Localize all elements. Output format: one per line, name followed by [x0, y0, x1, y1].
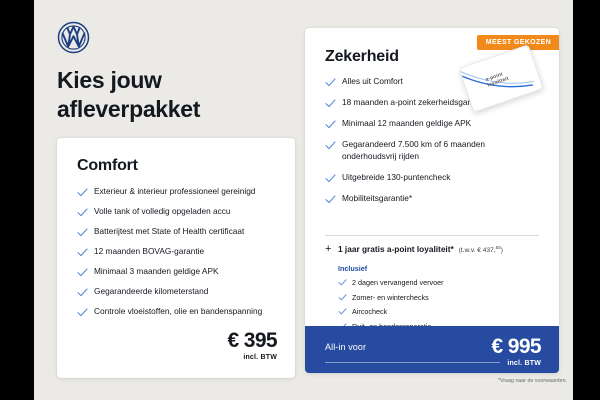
- zekerheid-price-footer: All-in voor € 995 incl. BTW: [305, 326, 559, 373]
- list-item: Exterieur & interieur professioneel gere…: [77, 186, 277, 198]
- page-title: Kies jouw afleverpakket: [57, 66, 287, 124]
- list-item-label: Uitgebreide 130-puntencheck: [342, 172, 450, 182]
- included-title: Inclusief: [338, 264, 488, 273]
- list-item: 2 dagen vervangend vervoer: [338, 278, 488, 287]
- list-item: Volle tank of volledig opgeladen accu: [77, 206, 277, 218]
- list-item-label: Batterijtest met State of Health certifi…: [94, 226, 244, 236]
- list-item: Controle vloeistoffen, olie en bandenspa…: [77, 306, 277, 318]
- footnote: *Vraag naar de voorwaarden.: [498, 378, 567, 384]
- divider: [325, 235, 539, 236]
- allin-label: All-in voor: [325, 342, 366, 352]
- page-canvas: Kies jouw afleverpakket Comfort Exterieu…: [34, 0, 573, 400]
- page-title-line-2: afleverpakket: [57, 95, 287, 124]
- status-badge: MEEST GEKOZEN: [477, 35, 559, 50]
- list-item-label: 18 maanden a-point zekerheidsgarantie: [342, 97, 488, 107]
- check-icon: [325, 174, 336, 183]
- package-card-comfort[interactable]: Comfort Exterieur & interieur profession…: [57, 138, 295, 378]
- page-title-line-1: Kies jouw: [57, 66, 287, 95]
- divider: [325, 362, 500, 363]
- check-icon: [325, 141, 336, 150]
- check-icon: [338, 308, 347, 315]
- list-item-label: Aircocheck: [352, 307, 387, 316]
- list-item: 12 maanden BOVAG-garantie: [77, 246, 277, 258]
- check-icon: [325, 99, 336, 108]
- comfort-feature-list: Exterieur & interieur professioneel gere…: [77, 186, 277, 326]
- list-item: Gegarandeerd 7.500 km of 6 maanden onder…: [325, 139, 541, 162]
- list-item: Minimaal 3 maanden geldige APK: [77, 266, 277, 278]
- check-icon: [338, 294, 347, 301]
- list-item: Zomer- en winterchecks: [338, 293, 488, 302]
- check-icon: [325, 78, 336, 87]
- list-item: Uitgebreide 130-puntencheck: [325, 172, 541, 184]
- list-item-label: Mobiliteitsgarantie*: [342, 193, 412, 203]
- loyalty-extra-label: 1 jaar gratis a-point loyaliteit*: [338, 244, 454, 254]
- zekerheid-price: € 995: [491, 336, 541, 358]
- check-icon: [77, 248, 88, 257]
- check-icon: [325, 120, 336, 129]
- comfort-title: Comfort: [77, 157, 138, 175]
- zekerheid-price-note: incl. BTW: [491, 360, 541, 367]
- package-card-zekerheid[interactable]: MEEST GEKOZEN Zekerheid Alles uit Comfor…: [305, 28, 559, 373]
- list-item: Gegarandeerde kilometerstand: [77, 286, 277, 298]
- list-item: Minimaal 12 maanden geldige APK: [325, 118, 541, 130]
- check-icon: [77, 288, 88, 297]
- list-item-label: 12 maanden BOVAG-garantie: [94, 246, 204, 256]
- check-icon: [77, 188, 88, 197]
- volkswagen-logo: [57, 21, 90, 54]
- intro-column: Kies jouw afleverpakket Comfort Exterieu…: [53, 0, 297, 400]
- check-icon: [325, 195, 336, 204]
- comfort-price-block: € 395 incl. BTW: [227, 330, 277, 361]
- list-item: 18 maanden a-point zekerheidsgarantie: [325, 97, 541, 109]
- list-item-label: Minimaal 3 maanden geldige APK: [94, 266, 219, 276]
- check-icon: [338, 279, 347, 286]
- list-item-label: 2 dagen vervangend vervoer: [352, 278, 444, 287]
- zekerheid-feature-list: Alles uit Comfort 18 maanden a-point zek…: [325, 76, 541, 214]
- check-icon: [77, 268, 88, 277]
- list-item-label: Gegarandeerd 7.500 km of 6 maanden onder…: [342, 139, 485, 161]
- list-item-label: Zomer- en winterchecks: [352, 293, 429, 302]
- check-icon: [77, 308, 88, 317]
- zekerheid-price-block: € 995 incl. BTW: [491, 336, 541, 367]
- list-item-label: Alles uit Comfort: [342, 76, 403, 86]
- check-icon: [77, 228, 88, 237]
- comfort-price: € 395: [227, 330, 277, 352]
- list-item-label: Gegarandeerde kilometerstand: [94, 286, 208, 296]
- comfort-price-note: incl. BTW: [227, 354, 277, 361]
- plus-icon: +: [325, 244, 338, 255]
- list-item-label: Controle vloeistoffen, olie en bandenspa…: [94, 306, 262, 316]
- included-list: 2 dagen vervangend vervoer Zomer- en win…: [338, 278, 488, 331]
- list-item-label: Minimaal 12 maanden geldige APK: [342, 118, 471, 128]
- list-item: Alles uit Comfort: [325, 76, 541, 88]
- loyalty-extra-row: + 1 jaar gratis a-point loyaliteit* (t.w…: [325, 244, 545, 255]
- zekerheid-title: Zekerheid: [325, 48, 399, 66]
- list-item: Batterijtest met State of Health certifi…: [77, 226, 277, 238]
- list-item: Aircocheck: [338, 307, 488, 316]
- loyalty-value-suffix: ): [501, 247, 503, 254]
- loyalty-value-prefix: (t.w.v. € 437,: [459, 247, 496, 254]
- list-item-label: Volle tank of volledig opgeladen accu: [94, 206, 231, 216]
- list-item: Mobiliteitsgarantie*: [325, 193, 541, 205]
- loyalty-extra-value: (t.w.v. € 437,50): [459, 245, 503, 254]
- list-item-label: Exterieur & interieur professioneel gere…: [94, 186, 255, 196]
- check-icon: [77, 208, 88, 217]
